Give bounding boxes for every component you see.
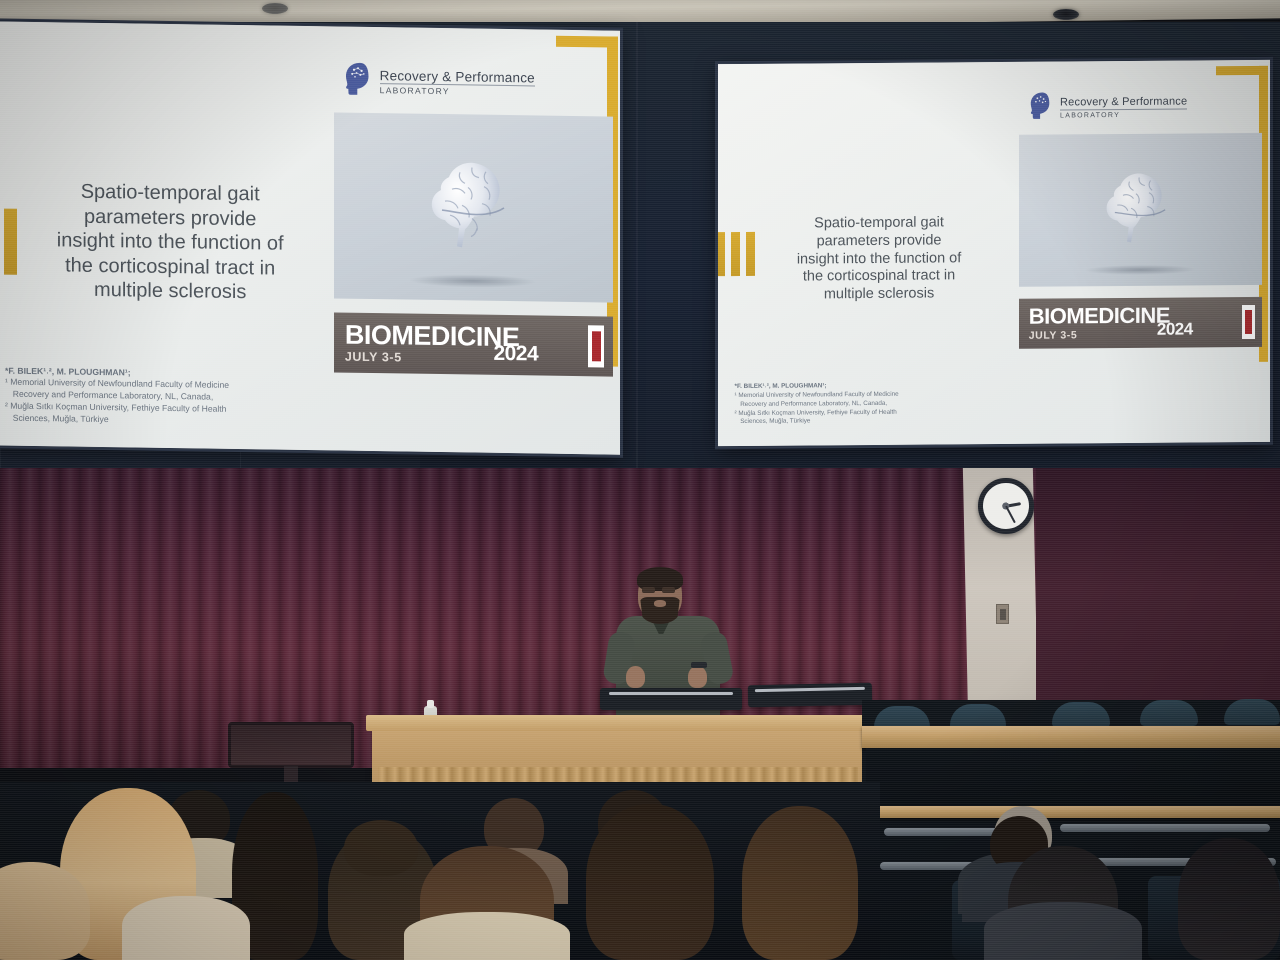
- av-monitor: [228, 722, 354, 768]
- presenter-hand-left: [626, 666, 645, 688]
- brain-shadow: [1085, 264, 1197, 276]
- light-switch[interactable]: [996, 604, 1009, 624]
- banner-title: BIOMEDICINE: [1029, 305, 1170, 327]
- projection-screen-right: Spatio-temporal gait parameters provide …: [718, 60, 1270, 446]
- gold-accent-bars: [0, 208, 17, 275]
- audience-head: [344, 820, 418, 876]
- projection-screen-left: Spatio-temporal gait parameters provide …: [0, 21, 620, 454]
- lecture-hall-photo: Spatio-temporal gait parameters provide …: [0, 0, 1280, 960]
- audience-hair: [1178, 838, 1280, 960]
- slide-left: Spatio-temporal gait parameters provide …: [0, 21, 620, 454]
- banner-left: BIOMEDICINE JULY 3-5: [1029, 305, 1170, 341]
- desk-rail: [862, 726, 1280, 748]
- title-line: insight into the function of: [781, 250, 978, 269]
- chair[interactable]: [1140, 700, 1198, 726]
- brain-image: [334, 113, 613, 303]
- title-line: multiple sclerosis: [56, 277, 284, 305]
- slide-right: Spatio-temporal gait parameters provide …: [718, 60, 1270, 446]
- recessed-downlight: [1053, 9, 1079, 20]
- laptop-left[interactable]: [600, 688, 742, 710]
- laptop-right[interactable]: [748, 683, 872, 708]
- authors-block: *F. BILEK¹˒², M. PLOUGHMAN¹; ¹ Memorial …: [735, 382, 983, 427]
- authors-block: *F. BILEK¹˒², M. PLOUGHMAN¹; ¹ Memorial …: [5, 365, 290, 429]
- slide-text-panel: Spatio-temporal gait parameters provide …: [0, 21, 303, 450]
- logo-main-text: Recovery & Performance: [380, 69, 535, 87]
- audience-shoulders: [404, 912, 570, 960]
- conference-logo-mark: [588, 326, 604, 368]
- head-profile-brain-icon: [344, 62, 374, 101]
- presenter-mouth: [654, 600, 666, 607]
- slide-title: Spatio-temporal gait parameters provide …: [781, 214, 978, 304]
- desk-face: [866, 748, 1280, 806]
- presenter-watch: [691, 662, 707, 668]
- logo-sub-text: LABORATORY: [1060, 111, 1187, 119]
- title-line: Spatio-temporal gait: [56, 180, 284, 208]
- banner-date: JULY 3-5: [1029, 328, 1170, 341]
- lab-logo-text: Recovery & Performance LABORATORY: [380, 69, 535, 97]
- title-line: parameters provide: [56, 204, 284, 232]
- title-line: insight into the function of: [56, 228, 284, 256]
- desk-rail: [870, 806, 1280, 818]
- audience-hair: [742, 806, 858, 960]
- title-line: Spatio-temporal gait: [781, 214, 978, 233]
- gold-accent-bars: [718, 232, 755, 276]
- slide-text-panel: Spatio-temporal gait parameters provide …: [718, 62, 994, 446]
- presenter-eye-left: [642, 587, 655, 593]
- audience-shoulders: [122, 896, 250, 960]
- conference-logo-mark: [1242, 305, 1255, 339]
- lab-logo: Recovery & Performance LABORATORY: [1029, 90, 1248, 125]
- biomedicine-banner: BIOMEDICINE JULY 3-5 2024: [1019, 297, 1262, 349]
- chair[interactable]: [1052, 702, 1110, 728]
- gold-bar: [4, 208, 17, 274]
- chair[interactable]: [1224, 699, 1280, 725]
- presenter-eye-right: [662, 587, 675, 593]
- audience-shoulders: [984, 902, 1142, 960]
- analog-wall-clock: [978, 478, 1034, 534]
- banner-year: 2024: [493, 342, 538, 367]
- podium-surface: [366, 715, 870, 731]
- slide-media-panel: Recovery & Performance LABORATORY: [303, 26, 620, 455]
- slide-media-panel: Recovery & Performance LABORATORY: [994, 60, 1270, 444]
- affiliation-line: Sciences, Muğla, Türkiye: [735, 416, 983, 427]
- slide-title: Spatio-temporal gait parameters provide …: [56, 180, 284, 305]
- biomedicine-banner: BIOMEDICINE JULY 3-5 2024: [334, 313, 613, 377]
- title-line: parameters provide: [781, 232, 978, 251]
- gold-bar: [731, 232, 740, 276]
- gold-bar: [746, 232, 755, 276]
- brain-shadow: [409, 274, 537, 289]
- logo-sub-text: LABORATORY: [380, 86, 535, 97]
- recessed-downlight: [262, 3, 288, 14]
- audience-hair: [586, 804, 714, 960]
- title-line: the corticospinal tract in: [56, 253, 284, 281]
- gold-bar: [718, 232, 725, 276]
- head-profile-brain-icon: [1029, 92, 1054, 125]
- lab-logo-text: Recovery & Performance LABORATORY: [1060, 96, 1187, 119]
- title-line: multiple sclerosis: [781, 285, 978, 304]
- clock-ticks: [987, 487, 1025, 525]
- logo-main-text: Recovery & Performance: [1060, 96, 1187, 110]
- wall-seam: [636, 22, 638, 492]
- mark-bar: [592, 332, 601, 362]
- banner-year: 2024: [1157, 319, 1193, 339]
- title-line: the corticospinal tract in: [781, 267, 978, 286]
- mark-bar: [1245, 310, 1252, 334]
- brain-image: [1019, 133, 1262, 287]
- lab-logo: Recovery & Performance LABORATORY: [344, 62, 595, 105]
- presenter-hand-right: [688, 666, 707, 688]
- seat-edge: [1060, 824, 1270, 832]
